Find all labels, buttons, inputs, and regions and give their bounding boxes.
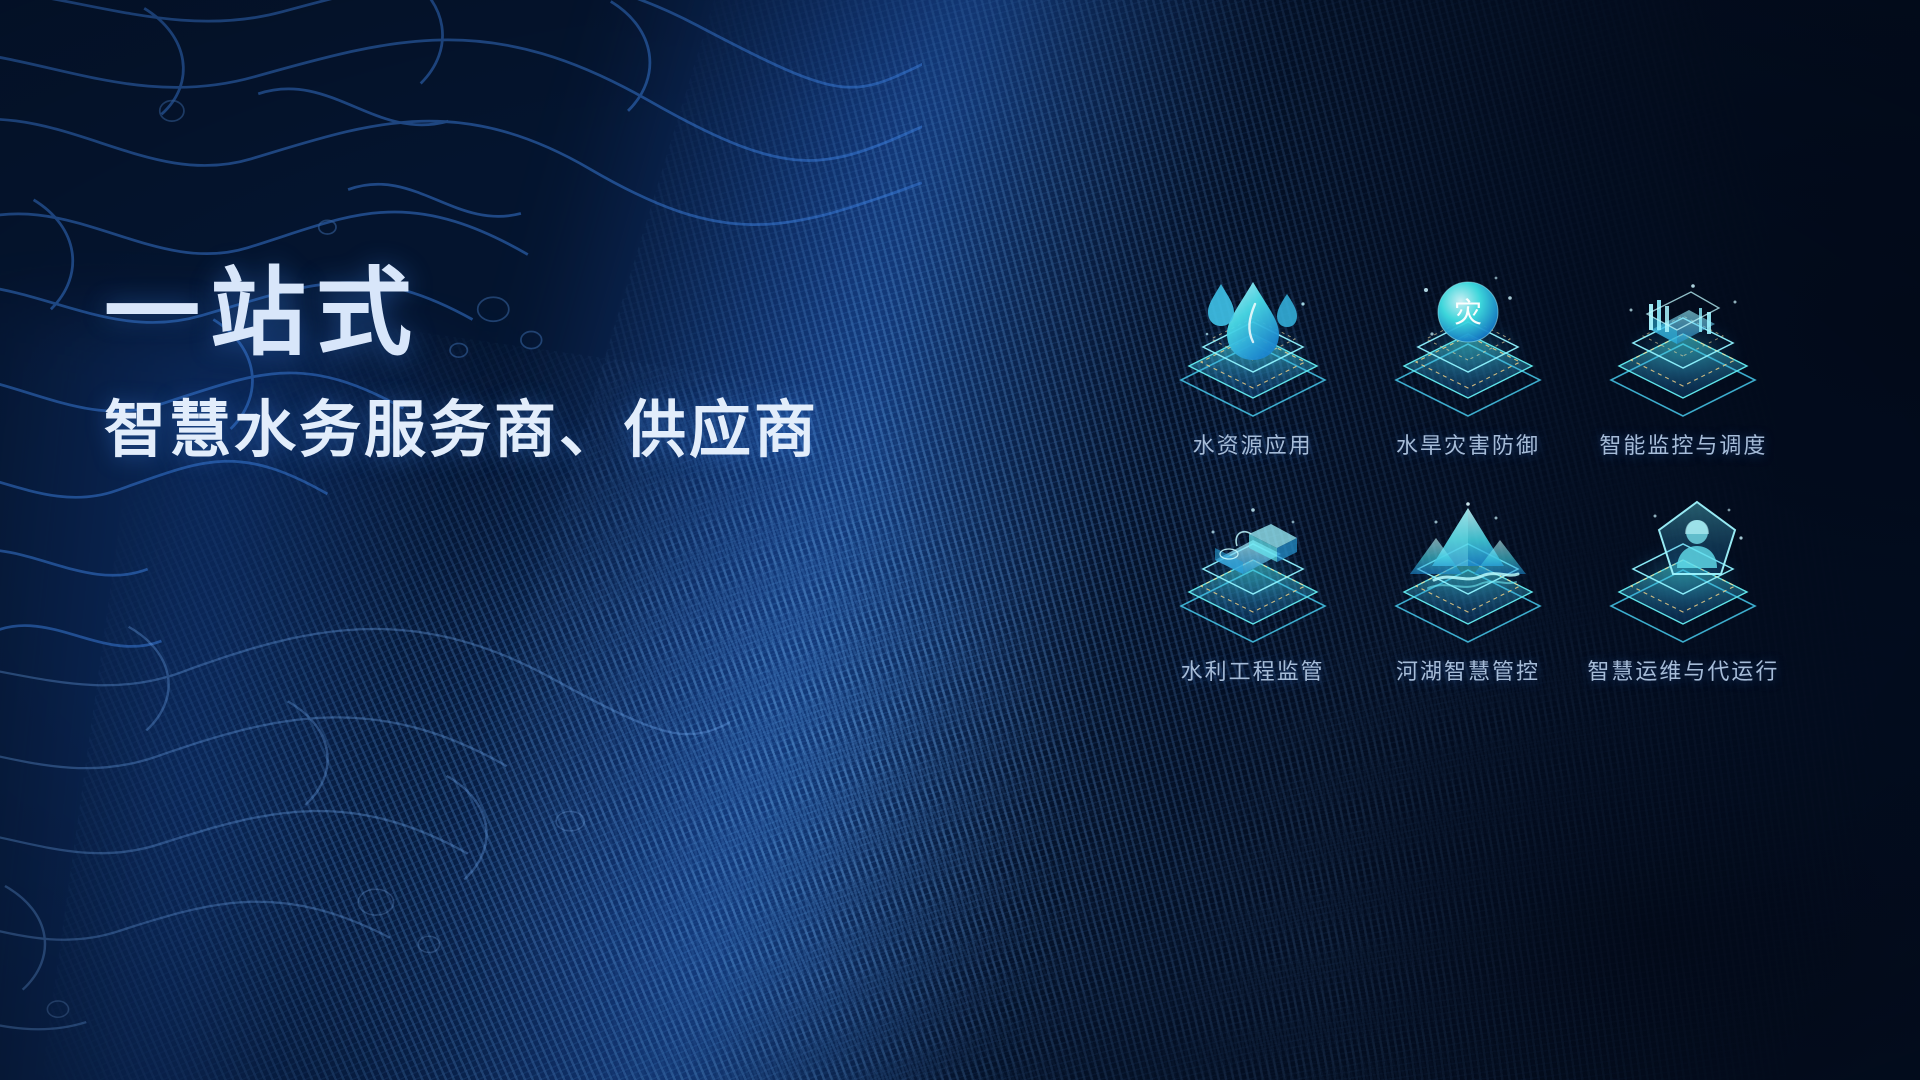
hero-text-block: 一站式 智慧水务服务商、供应商 [104,262,984,465]
capability-label: 河湖智慧管控 [1396,654,1540,686]
page-title: 一站式 [104,262,984,366]
page-subtitle: 智慧水务服务商、供应商 [104,396,984,465]
capability-label: 水旱灾害防御 [1396,428,1540,460]
capability-label: 智能监控与调度 [1599,428,1767,460]
capability-grid: 水资源应用 [1148,268,1788,720]
capability-item-river-lake-control[interactable]: 河湖智慧管控 [1363,494,1572,720]
capability-label: 水资源应用 [1193,428,1313,460]
shield-operator-icon [1593,494,1773,644]
capability-label: 水利工程监管 [1181,654,1325,686]
disaster-badge-text: 灾 [1454,297,1482,328]
pipeline-structure-icon [1163,494,1343,644]
capability-item-water-resource[interactable]: 水资源应用 [1148,268,1357,494]
mountain-river-icon [1378,494,1558,644]
water-droplet-icon [1163,268,1343,418]
capability-item-water-project-supervision[interactable]: 水利工程监管 [1148,494,1357,720]
slide-canvas: 一站式 智慧水务服务商、供应商 [0,0,1920,1080]
dam-monitor-icon [1593,268,1773,418]
capability-item-smart-monitor-dispatch[interactable]: 智能监控与调度 [1579,268,1788,494]
capability-item-smart-ops-operation[interactable]: 智慧运维与代运行 [1579,494,1788,720]
disaster-sphere-icon: 灾 [1378,268,1558,418]
capability-label: 智慧运维与代运行 [1587,654,1779,686]
capability-item-flood-drought-defense[interactable]: 灾 水旱灾害防御 [1363,268,1572,494]
